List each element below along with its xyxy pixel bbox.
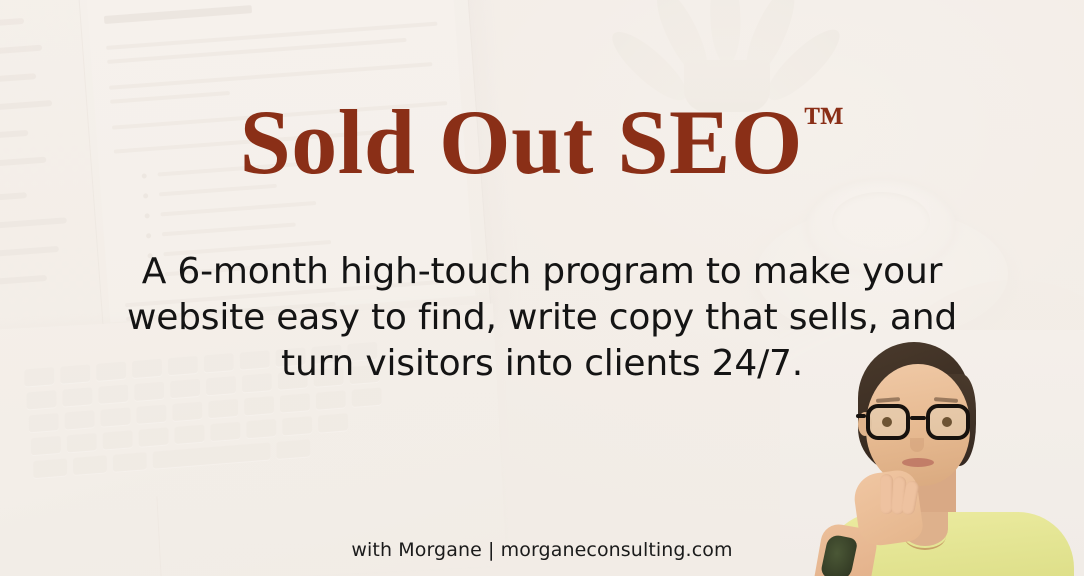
subheadline-line-2: website easy to find, write copy that se… (120, 295, 964, 341)
footer-credit: with Morgane | morganeconsulting.com (0, 538, 1084, 562)
subheadline-line-3: turn visitors into clients 24/7. (120, 341, 964, 387)
trademark-symbol: ™ (803, 98, 844, 144)
slide-content: Sold Out SEO™ A 6-month high-touch progr… (0, 0, 1084, 576)
subheadline: A 6-month high-touch program to make you… (120, 249, 964, 387)
page-title: Sold Out SEO™ (0, 96, 1084, 188)
page-title-text: Sold Out SEO (240, 91, 803, 193)
subheadline-line-1: A 6-month high-touch program to make you… (120, 249, 964, 295)
promo-slide: Sold Out SEO™ A 6-month high-touch progr… (0, 0, 1084, 576)
